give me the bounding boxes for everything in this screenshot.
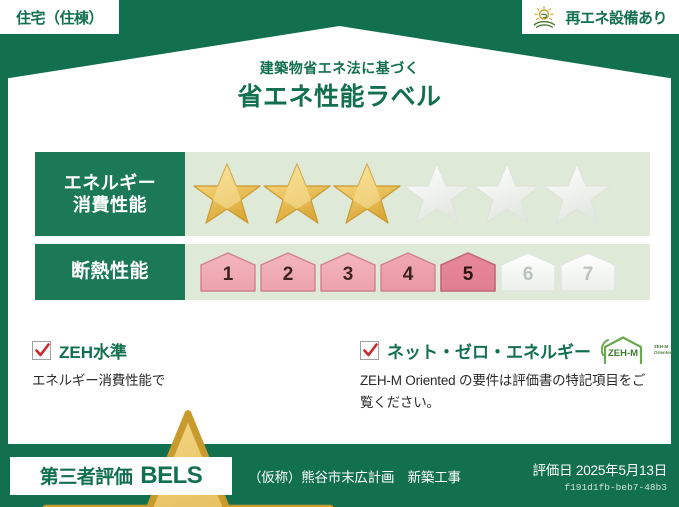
house-chip-2: 2	[259, 251, 317, 293]
footer-bar: 第三者評価 BELS （仮称）熊谷市末広計画 新築工事 評価日 2025年5月1…	[0, 444, 679, 507]
criteria-zeh-title: ZEH水準	[59, 338, 127, 363]
criteria-nze-body: ZEH-M Oriented の要件は評価書の特記項目をご覧ください。	[360, 370, 652, 415]
house-chip-number: 4	[403, 265, 414, 293]
label-main-title: 省エネ性能ラベル	[0, 82, 679, 112]
rating-scale-stars	[185, 152, 650, 236]
rating-row-label-insulation: 断熱性能	[35, 244, 185, 300]
checkbox-net-zero-energy[interactable]	[360, 341, 379, 360]
bels-badge-jp-label: 第三者評価	[40, 462, 133, 489]
star-empty-5	[471, 159, 543, 229]
criteria-zeh-header: ZEH水準	[32, 338, 342, 362]
renewable-energy-badge: 再エネ設備あり	[522, 0, 679, 34]
criteria-nze-title: ネット・ゼロ・エネルギー	[387, 338, 591, 363]
house-chip-number: 3	[343, 265, 354, 293]
rating-row-energy-consumption: エネルギー 消費性能	[35, 152, 650, 236]
evaluation-id: f191d1fb-beb7-48b3	[532, 482, 667, 493]
house-chip-number: 7	[583, 265, 594, 293]
bels-badge: 第三者評価 BELS	[10, 457, 232, 495]
rating-rows: エネルギー 消費性能	[35, 152, 650, 308]
label-title-block: 建築物省エネ法に基づく 省エネ性能ラベル	[0, 60, 679, 112]
house-chip-number: 6	[523, 265, 534, 293]
star-empty-4	[401, 159, 473, 229]
category-tab-label: 住宅（住棟）	[16, 7, 103, 28]
category-tab: 住宅（住棟）	[0, 0, 119, 34]
house-chip-number: 1	[223, 265, 234, 293]
zeh-m-logo-sublabel: ZEH-M Oriented	[654, 344, 673, 355]
rating-label-line-1: 断熱性能	[71, 260, 149, 284]
rating-row-insulation: 断熱性能 1 2	[35, 244, 650, 300]
zeh-m-logo-sublabel-line2: Oriented	[654, 350, 673, 355]
criteria-zeh-body-part1: エネルギー消費性能で	[32, 373, 165, 388]
house-chip-5: 5	[439, 251, 497, 293]
rating-label-line-2: 消費性能	[73, 194, 147, 217]
solar-sun-icon	[532, 5, 558, 29]
house-chip-3: 3	[319, 251, 377, 293]
energy-performance-label: 住宅（住棟） 再エネ設備あり 建築	[0, 0, 679, 507]
zeh-m-logo-sublabel-line1: ZEH-M	[654, 344, 668, 349]
house-chip-4: 4	[379, 251, 437, 293]
renewable-energy-badge-label: 再エネ設備あり	[565, 7, 667, 28]
star-filled-1	[191, 159, 263, 229]
rating-scale-houses: 1 2 3	[185, 244, 650, 300]
rating-row-label-energy-consumption: エネルギー 消費性能	[35, 152, 185, 236]
checkbox-zeh-standard[interactable]	[32, 341, 51, 360]
evaluation-date: 評価日 2025年5月13日	[532, 459, 667, 479]
project-name: （仮称）熊谷市末広計画 新築工事	[248, 466, 532, 486]
house-chip-6: 6	[499, 251, 557, 293]
bels-badge-en-label: BELS	[140, 462, 202, 490]
star-filled-3	[331, 159, 403, 229]
house-chip-1: 1	[199, 251, 257, 293]
criteria-nze-header: ネット・ゼロ・エネルギー ZEH-M ZEH-M Oriented	[360, 338, 652, 362]
house-chip-7: 7	[559, 251, 617, 293]
house-chip-number: 2	[283, 265, 294, 293]
evaluation-meta: 評価日 2025年5月13日 f191d1fb-beb7-48b3	[532, 459, 667, 493]
zeh-m-house-logo-icon: ZEH-M	[601, 335, 645, 365]
label-subtitle: 建築物省エネ法に基づく	[0, 60, 679, 77]
svg-text:ZEH-M: ZEH-M	[608, 348, 638, 359]
house-chip-number: 5	[463, 265, 474, 293]
star-filled-2	[261, 159, 333, 229]
rating-label-line-1: エネルギー	[64, 172, 157, 195]
star-empty-6	[541, 159, 613, 229]
